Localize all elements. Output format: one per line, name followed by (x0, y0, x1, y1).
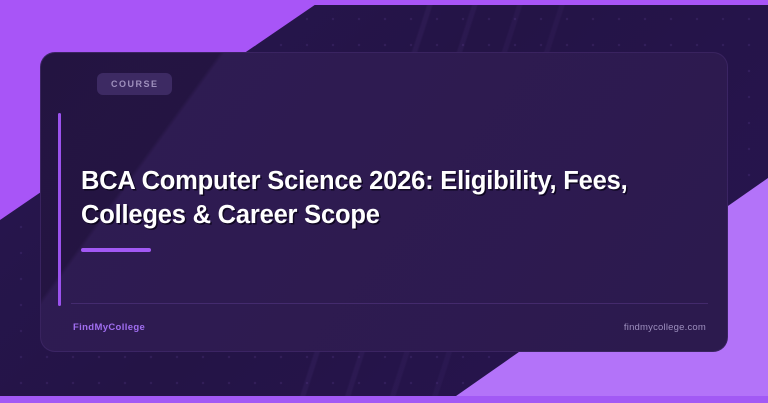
card-content: COURSE BCA Computer Science 2026: Eligib… (41, 53, 727, 351)
left-accent-bar (58, 113, 61, 306)
course-badge: COURSE (97, 73, 172, 95)
title-block: BCA Computer Science 2026: Eligibility, … (81, 165, 681, 252)
bottom-accent-band (0, 396, 768, 403)
top-accent-band (0, 0, 768, 5)
page-title: BCA Computer Science 2026: Eligibility, … (81, 165, 681, 232)
banner-card: COURSE BCA Computer Science 2026: Eligib… (40, 52, 728, 352)
title-underline-accent (81, 248, 151, 252)
site-url-label: findmycollege.com (624, 322, 706, 333)
brand-name: FindMyCollege (73, 322, 145, 333)
card-footer: FindMyCollege findmycollege.com (71, 303, 708, 351)
